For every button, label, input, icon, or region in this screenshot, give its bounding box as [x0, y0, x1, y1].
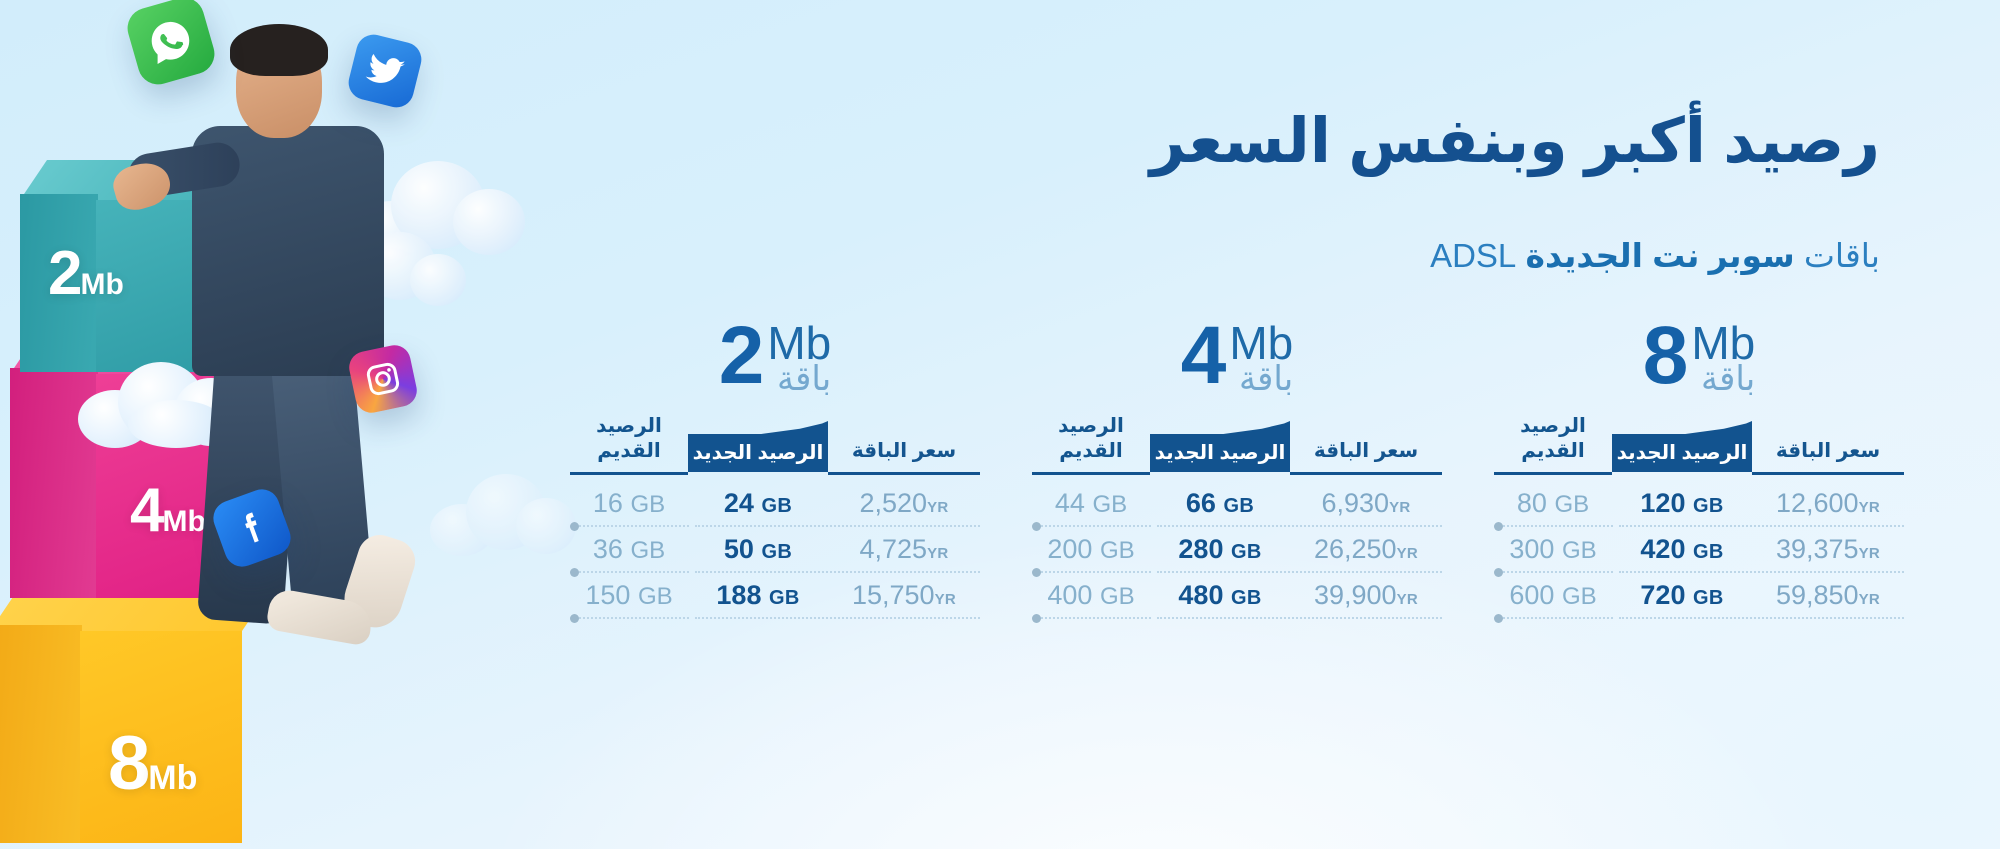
row-separator — [1494, 617, 1904, 619]
new-balance-ribbon: الرصيد الجديد — [688, 434, 828, 472]
cell-price: 39,375YR — [1752, 534, 1904, 565]
new-balance-ribbon: الرصيد الجديد — [1612, 434, 1752, 472]
currency: YR — [935, 591, 956, 608]
price-value: 2,520 — [859, 488, 927, 518]
price-value: 12,600 — [1776, 488, 1859, 518]
old-value: 16 — [593, 488, 623, 518]
cell-old-balance: 36 GB — [570, 534, 688, 565]
header-underline — [570, 472, 980, 475]
packages-container: 8 Mb باقة سعر الباقة الرصيد الجديد الر — [660, 318, 1904, 619]
package-4mb-header-row: سعر الباقة الرصيد الجديد الرصيد القديم — [1032, 422, 1442, 472]
unit: GB — [1562, 537, 1597, 564]
table-row: 12,600YR 120 GB 80 GB — [1494, 481, 1904, 525]
new-value: 280 — [1178, 534, 1223, 564]
underline-segment — [1494, 472, 1612, 475]
unit: GB — [1100, 537, 1135, 564]
table-row: 26,250YR 280 GB 200 GB — [1032, 527, 1442, 571]
new-value: 720 — [1640, 580, 1685, 610]
price-value: 59,850 — [1776, 580, 1859, 610]
separator-dashes — [1041, 617, 1151, 619]
price-value: 39,900 — [1314, 580, 1397, 610]
old-value: 600 — [1509, 580, 1554, 610]
package-4mb-rows: 6,930YR 66 GB 44 GB 26,250YR 280 GB 200 … — [1032, 481, 1442, 619]
cell-price: 2,520YR — [828, 488, 980, 519]
ribbon-notch — [1678, 421, 1752, 435]
content-area: رصيد أكبر وبنفس السعر باقات سوبر نت الجد… — [500, 0, 2000, 849]
unit: GB — [1693, 495, 1724, 517]
unit: GB — [761, 541, 792, 563]
separator-dashes — [579, 617, 689, 619]
header-new-balance-label: الرصيد الجديد — [1617, 442, 1748, 464]
package-2mb-speed: 2 — [719, 318, 762, 393]
package-8mb-word: باقة — [1701, 362, 1755, 398]
currency: YR — [927, 499, 948, 516]
package-4mb-word: باقة — [1239, 362, 1293, 398]
table-row: 39,375YR 420 GB 300 GB — [1494, 527, 1904, 571]
cell-new-balance: 188 GB — [688, 580, 828, 611]
subtitle-prefix: باقات — [1795, 237, 1880, 274]
unit: GB — [1693, 587, 1724, 609]
header-underline — [1032, 472, 1442, 475]
ribbon-notch — [1216, 421, 1290, 435]
package-4mb-speed: 4 — [1181, 318, 1224, 393]
header-new-balance-label: الرصيد الجديد — [1155, 442, 1286, 464]
package-8mb-speed: 8 — [1643, 318, 1686, 393]
header-new-balance: الرصيد الجديد — [688, 434, 828, 472]
underline-gap — [688, 472, 828, 475]
ribbon-notch — [754, 421, 828, 435]
package-2mb-rows: 2,520YR 24 GB 16 GB 4,725YR 50 GB 36 GB … — [570, 481, 980, 619]
old-value: 44 — [1055, 488, 1085, 518]
cell-new-balance: 120 GB — [1612, 488, 1752, 519]
cube-2mb-number: 2 — [48, 239, 80, 308]
cube-2mb-label: 2Mb — [48, 238, 124, 309]
header-price: سعر الباقة — [1752, 438, 1904, 472]
banner-stage: 8Mb 4Mb 2Mb — [0, 0, 2000, 849]
cell-price: 15,750YR — [828, 580, 980, 611]
price-value: 26,250 — [1314, 534, 1397, 564]
unit: GB — [1554, 491, 1589, 518]
old-value: 36 — [593, 534, 623, 564]
package-8mb-header-row: سعر الباقة الرصيد الجديد الرصيد القديم — [1494, 422, 1904, 472]
unit: GB — [1693, 541, 1724, 563]
table-row: 2,520YR 24 GB 16 GB — [570, 481, 980, 525]
separator-dashes — [1503, 617, 1613, 619]
old-value: 150 — [585, 580, 630, 610]
new-value: 420 — [1640, 534, 1685, 564]
cell-price: 39,900YR — [1290, 580, 1442, 611]
currency: YR — [1859, 591, 1880, 608]
separator-dashes — [1157, 617, 1443, 619]
subtitle-suffix: ADSL — [1430, 237, 1516, 275]
unit: GB — [769, 587, 800, 609]
price-value: 15,750 — [852, 580, 935, 610]
cell-new-balance: 420 GB — [1612, 534, 1752, 565]
price-value: 39,375 — [1776, 534, 1859, 564]
new-value: 480 — [1178, 580, 1223, 610]
header-price: سعر الباقة — [1290, 438, 1442, 472]
old-value: 400 — [1047, 580, 1092, 610]
unit: GB — [761, 495, 792, 517]
currency: YR — [1859, 499, 1880, 516]
cube-8mb-unit: Mb — [148, 759, 197, 797]
table-row: 6,930YR 66 GB 44 GB — [1032, 481, 1442, 525]
cell-new-balance: 50 GB — [688, 534, 828, 565]
header-old-balance: الرصيد القديم — [1032, 413, 1150, 472]
new-value: 24 — [724, 488, 754, 518]
model-photo — [150, 8, 480, 658]
price-value: 4,725 — [859, 534, 927, 564]
currency: YR — [1397, 545, 1418, 562]
cell-old-balance: 44 GB — [1032, 488, 1150, 519]
cell-old-balance: 400 GB — [1032, 580, 1150, 611]
cube-8mb-label: 8Mb — [108, 720, 197, 807]
package-4mb: 4 Mb باقة سعر الباقة الرصيد الجديد الر — [1032, 318, 1442, 619]
cell-price: 6,930YR — [1290, 488, 1442, 519]
package-4mb-title: 4 Mb باقة — [1032, 318, 1442, 406]
underline-segment — [1032, 472, 1150, 475]
cell-old-balance: 16 GB — [570, 488, 688, 519]
header-new-balance: الرصيد الجديد — [1150, 434, 1290, 472]
new-value: 50 — [724, 534, 754, 564]
table-row: 39,900YR 480 GB 400 GB — [1032, 573, 1442, 617]
package-2mb-title: 2 Mb باقة — [570, 318, 980, 406]
price-value: 6,930 — [1321, 488, 1389, 518]
page-subtitle: باقات سوبر نت الجديدة ADSL — [1430, 236, 1880, 275]
cell-old-balance: 600 GB — [1494, 580, 1612, 611]
cell-new-balance: 24 GB — [688, 488, 828, 519]
cube-2mb-unit: Mb — [80, 268, 123, 301]
old-value: 300 — [1509, 534, 1554, 564]
package-2mb-word: باقة — [777, 362, 831, 398]
cube-8mb-number: 8 — [108, 721, 148, 806]
unit: GB — [1092, 491, 1127, 518]
row-separator — [1032, 617, 1442, 619]
unit: GB — [1562, 583, 1597, 610]
currency: YR — [1397, 591, 1418, 608]
currency: YR — [1859, 545, 1880, 562]
unit: GB — [630, 537, 665, 564]
table-row: 4,725YR 50 GB 36 GB — [570, 527, 980, 571]
cell-price: 12,600YR — [1752, 488, 1904, 519]
unit: GB — [638, 583, 673, 610]
package-2mb-header-row: سعر الباقة الرصيد الجديد الرصيد القديم — [570, 422, 980, 472]
cell-price: 26,250YR — [1290, 534, 1442, 565]
cell-price: 59,850YR — [1752, 580, 1904, 611]
currency: YR — [1389, 499, 1410, 516]
unit: GB — [1223, 495, 1254, 517]
header-new-balance-label: الرصيد الجديد — [693, 442, 824, 464]
currency: YR — [927, 545, 948, 562]
cell-new-balance: 480 GB — [1150, 580, 1290, 611]
new-value: 120 — [1640, 488, 1685, 518]
cell-old-balance: 300 GB — [1494, 534, 1612, 565]
unit: GB — [1231, 587, 1262, 609]
unit: GB — [630, 491, 665, 518]
cell-new-balance: 66 GB — [1150, 488, 1290, 519]
cell-price: 4,725YR — [828, 534, 980, 565]
new-balance-ribbon: الرصيد الجديد — [1150, 434, 1290, 472]
underline-segment — [570, 472, 688, 475]
old-value: 80 — [1517, 488, 1547, 518]
separator-dashes — [1619, 617, 1905, 619]
subtitle-emphasis: سوبر نت الجديدة — [1525, 237, 1794, 274]
table-row: 59,850YR 720 GB 600 GB — [1494, 573, 1904, 617]
separator-dashes — [695, 617, 981, 619]
package-2mb: 2 Mb باقة سعر الباقة الرصيد الجديد الر — [570, 318, 980, 619]
underline-segment — [828, 472, 980, 475]
cell-old-balance: 150 GB — [570, 580, 688, 611]
page-title: رصيد أكبر وبنفس السعر — [1150, 108, 1880, 176]
unit: GB — [1231, 541, 1262, 563]
package-8mb-rows: 12,600YR 120 GB 80 GB 39,375YR 420 GB 30… — [1494, 481, 1904, 619]
header-price: سعر الباقة — [828, 438, 980, 472]
illustration-area: 8Mb 4Mb 2Mb — [0, 0, 520, 849]
package-8mb-title: 8 Mb باقة — [1494, 318, 1904, 406]
header-old-balance: الرصيد القديم — [570, 413, 688, 472]
underline-gap — [1150, 472, 1290, 475]
table-row: 15,750YR 188 GB 150 GB — [570, 573, 980, 617]
underline-gap — [1612, 472, 1752, 475]
new-value: 188 — [716, 580, 761, 610]
underline-segment — [1290, 472, 1442, 475]
cell-old-balance: 80 GB — [1494, 488, 1612, 519]
header-new-balance: الرصيد الجديد — [1612, 434, 1752, 472]
header-underline — [1494, 472, 1904, 475]
header-old-balance: الرصيد القديم — [1494, 413, 1612, 472]
cell-old-balance: 200 GB — [1032, 534, 1150, 565]
old-value: 200 — [1047, 534, 1092, 564]
row-separator — [570, 617, 980, 619]
cube-side-face — [0, 625, 82, 843]
underline-segment — [1752, 472, 1904, 475]
package-8mb: 8 Mb باقة سعر الباقة الرصيد الجديد الر — [1494, 318, 1904, 619]
new-value: 66 — [1186, 488, 1216, 518]
cell-new-balance: 720 GB — [1612, 580, 1752, 611]
model-hair — [230, 24, 328, 76]
unit: GB — [1100, 583, 1135, 610]
cell-new-balance: 280 GB — [1150, 534, 1290, 565]
